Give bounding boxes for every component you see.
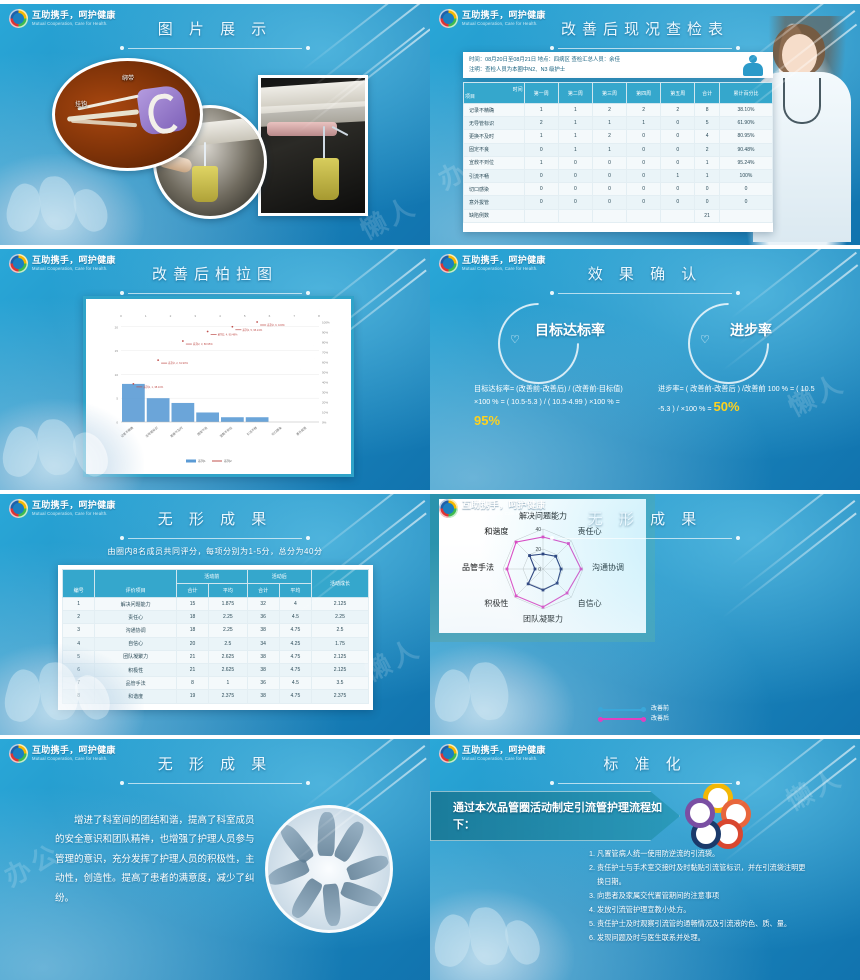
table-cell: 38 (247, 624, 279, 637)
svg-text:0: 0 (538, 567, 541, 573)
title-rule (550, 779, 740, 787)
brand-subtitle: Mutual Cooperation, Care for Health. (462, 22, 546, 26)
table-cell: 3 (63, 624, 95, 637)
table-cell: 7 (63, 677, 95, 690)
table-cell: 4.75 (279, 624, 311, 637)
svg-text:4: 4 (219, 314, 221, 318)
logo-mark-icon (9, 9, 28, 28)
table-cell: 100% (719, 169, 772, 182)
svg-text:品管手法: 品管手法 (462, 562, 494, 572)
table-cell: 1 (524, 156, 558, 169)
table-cell: 80.95% (719, 130, 772, 143)
photo-illustration-hook: 绑带 挂钩 (52, 58, 203, 171)
table-cell: 32 (247, 598, 279, 611)
table-cell: 0 (695, 183, 720, 196)
photo-label-hook: 挂钩 (75, 99, 87, 108)
title-rule (120, 289, 310, 297)
table-cell: 4 (63, 637, 95, 650)
table-column-header: 第四周 (627, 83, 661, 104)
table-group-header: 活动前 (176, 570, 247, 584)
table-row: 固定不良01100290.48% (464, 143, 773, 156)
table-cell: 1 (592, 143, 626, 156)
svg-text:20%: 20% (322, 401, 328, 405)
table-row: 无导管标识21110561.90% (464, 117, 773, 130)
svg-text:系列2, 5, 95.24%: 系列2, 5, 95.24% (242, 328, 262, 332)
logo-mark-icon (439, 499, 458, 518)
formula-target-text: 目标达标率= (改善前-改善后) / (改善前-目标值) ×100 % = ( … (474, 384, 623, 406)
table-cell: 4 (695, 130, 720, 143)
table-cell: 0 (627, 183, 661, 196)
title-rule (550, 289, 740, 297)
brand-logo: 互助携手，呵护健康 Mutual Cooperation, Care for H… (439, 9, 546, 28)
table-corner-header: 时间项目 (464, 83, 525, 104)
slide-intangible-results-table[interactable]: 互助携手，呵护健康 Mutual Cooperation, Care for H… (0, 490, 430, 735)
table-column-header: 第二周 (558, 83, 592, 104)
svg-text:20: 20 (535, 547, 541, 553)
teamwork-hands-photo (265, 805, 393, 933)
table-cell: 4.75 (279, 690, 311, 703)
table-row-label: 引流不畅 (464, 169, 525, 182)
table-cell: 1 (695, 169, 720, 182)
table-cell: 0 (661, 117, 695, 130)
brand-logo: 互助携手，呵护健康 Mutual Cooperation, Care for H… (9, 9, 116, 28)
table-cell: 0 (661, 196, 695, 209)
table-cell: 6 (63, 663, 95, 676)
slide-intangible-results-text[interactable]: 互助携手，呵护健康 Mutual Cooperation, Care for H… (0, 735, 430, 980)
table-cell: 2.25 (312, 611, 369, 624)
table-cell: 90.48% (719, 143, 772, 156)
brand-logo: 互助携手，呵护健康 Mutual Cooperation, Care for H… (9, 744, 116, 763)
svg-text:80%: 80% (322, 341, 328, 345)
table-cell: 8 (176, 677, 208, 690)
table-cell: 2.375 (209, 690, 247, 703)
table-cell: 0 (524, 143, 558, 156)
table-row-label: 无导管标识 (464, 117, 525, 130)
svg-text:意外拔管: 意外拔管 (295, 425, 307, 437)
table-row-label: 责任心 (95, 611, 177, 624)
table-cell: 2.375 (312, 690, 369, 703)
table-cell: 36 (247, 677, 279, 690)
brand-title: 互助携手，呵护健康 (32, 256, 116, 265)
table-cell: 0 (719, 183, 772, 196)
title-rule (120, 44, 310, 52)
brand-logo: 互助携手，呵护健康 Mutual Cooperation, Care for H… (439, 254, 546, 273)
table-row: 1解决问题能力151.8753242.125 (63, 598, 369, 611)
table-cell: 38 (247, 663, 279, 676)
svg-text:2: 2 (170, 314, 172, 318)
heartbeat-icon: ♡ (700, 333, 710, 346)
table-row-label: 更换不及时 (464, 130, 525, 143)
table-cell: 2.5 (209, 637, 247, 650)
svg-text:90%: 90% (322, 331, 328, 335)
svg-text:40%: 40% (322, 381, 328, 385)
table-cell (558, 209, 592, 222)
table-header-blank: 编号 (63, 570, 95, 598)
brand-logo: 互助携手，呵护健康 Mutual Cooperation, Care for H… (439, 499, 546, 518)
table-cell: 34 (247, 637, 279, 650)
table-row-label: 切口感染 (464, 183, 525, 196)
svg-text:30%: 30% (322, 391, 328, 395)
table-column-header: 累计百分比 (719, 83, 772, 104)
list-item: 发现问题及时与医生联系并处理。 (597, 931, 810, 945)
brand-logo: 互助携手，呵护健康 Mutual Cooperation, Care for H… (9, 254, 116, 273)
table-cell: 0 (592, 196, 626, 209)
slide-post-improve-checklist[interactable]: 互助携手，呵护健康 Mutual Cooperation, Care for H… (430, 0, 860, 245)
table-cell: 21 (695, 209, 720, 222)
logo-mark-icon (439, 9, 458, 28)
table-cell: 2 (524, 117, 558, 130)
svg-text:20: 20 (115, 325, 119, 329)
flower-diagram-icon (685, 783, 750, 845)
table-cell: 5 (63, 650, 95, 663)
logo-mark-icon (439, 744, 458, 763)
table-cell: 0 (558, 196, 592, 209)
table-cell (592, 209, 626, 222)
table-cell: 3.5 (312, 677, 369, 690)
table-cell: 2 (63, 611, 95, 624)
title-rule (120, 534, 310, 542)
svg-text:5: 5 (116, 397, 118, 401)
brand-title: 互助携手，呵护健康 (32, 746, 116, 755)
banner-text: 通过本次品管圈活动制定引流管护理流程如下： (431, 792, 679, 834)
table-cell: 4.75 (279, 650, 311, 663)
table-row: 8和谐度192.375384.752.375 (63, 690, 369, 703)
table-cell: 1 (524, 130, 558, 143)
table-cell: 18 (176, 611, 208, 624)
formula-improve-rate: 进步率= ( 改善前-改善后 ) /改善前 100 % = ( 10.5 -5.… (658, 382, 828, 419)
table-cell: 0 (524, 183, 558, 196)
table-row: 切口感染0000000 (464, 183, 773, 196)
slide-post-improve-pareto[interactable]: 互助携手，呵护健康 Mutual Cooperation, Care for H… (0, 245, 430, 490)
table-cell: 4 (279, 598, 311, 611)
photo-bed-drainage (258, 75, 368, 216)
logo-mark-icon (9, 254, 28, 273)
svg-text:系列2, 6, 100%: 系列2, 6, 100% (267, 323, 285, 327)
svg-text:系列2: 系列2 (224, 458, 232, 463)
table-cell: 2 (592, 130, 626, 143)
table-cell: 0 (524, 196, 558, 209)
svg-text:系列2, 2, 61.90%: 系列2, 2, 61.90% (168, 361, 188, 365)
brand-logo: 互助携手，呵护健康 Mutual Cooperation, Care for H… (9, 499, 116, 518)
svg-text:团队凝聚力: 团队凝聚力 (523, 614, 563, 624)
table-cell: 0 (719, 196, 772, 209)
table-column-header: 合计 (695, 83, 720, 104)
table-header-blank: 评价项目 (95, 570, 177, 598)
title-rule (550, 44, 740, 52)
logo-mark-icon (439, 254, 458, 273)
table-cell (719, 209, 772, 222)
list-item: 向患者及家属交代置管期间的注意事项 (597, 889, 810, 903)
formula-target-rate: 目标达标率= (改善前-改善后) / (改善前-目标值) ×100 % = ( … (474, 382, 639, 433)
brand-title: 互助携手，呵护健康 (32, 11, 116, 20)
checklist-info-strip: 时间：08月20日至08月21日 地点：四病区 查检汇总人员：余佳 注明：查检人… (463, 52, 773, 78)
table-cell: 18 (176, 624, 208, 637)
brand-title: 互助携手，呵护健康 (462, 256, 546, 265)
table-row-label: 沟通协调 (95, 624, 177, 637)
table-column-header: 第五周 (661, 83, 695, 104)
table-cell: 0 (558, 183, 592, 196)
background-hands-image (430, 644, 574, 735)
table-cell: 2.625 (209, 650, 247, 663)
svg-text:系列1: 系列1 (198, 458, 206, 463)
svg-text:更换不及时: 更换不及时 (169, 425, 184, 438)
table-cell: 5 (695, 117, 720, 130)
list-item: 责任护士与手术室交接时及时黏贴引流管标识，并在引流袋注明更换日期。 (597, 861, 810, 889)
brand-title: 互助携手，呵护健康 (462, 501, 546, 510)
svg-text:3: 3 (194, 314, 196, 318)
table-cell: 0 (558, 156, 592, 169)
table-cell: 2.125 (312, 598, 369, 611)
table-cell: 2.125 (312, 663, 369, 676)
table-row-label: 团队凝聚力 (95, 650, 177, 663)
table-cell: 2 (661, 104, 695, 117)
pareto-chart-card: 051015200123456780%10%20%30%40%50%60%70%… (83, 296, 354, 477)
table-cell: 4.5 (279, 611, 311, 624)
table-cell: 1 (209, 677, 247, 690)
info-line-2: 注明：查检人员为本圈中N2、N3 级护士 (469, 65, 620, 75)
slide-standardization[interactable]: 互助携手，呵护健康 Mutual Cooperation, Care for H… (430, 735, 860, 980)
table-column-header: 第三周 (592, 83, 626, 104)
label-target-rate: 目标达标率 (535, 320, 605, 340)
brand-title: 互助携手，呵护健康 (462, 746, 546, 755)
table-row: 引流不畅000011100% (464, 169, 773, 182)
logo-mark-icon (9, 499, 28, 518)
standardization-banner: 通过本次品管圈活动制定引流管护理流程如下： (430, 791, 680, 841)
info-line-1: 时间：08月20日至08月21日 地点：四病区 查检汇总人员：余佳 (469, 55, 620, 65)
value-improve-rate: 50% (714, 399, 740, 414)
table-cell: 8 (63, 690, 95, 703)
svg-text:积极性: 积极性 (484, 598, 508, 608)
table-cell: 0 (661, 143, 695, 156)
scoring-note: 由圈内8名成员共同评分，每项分别为1-5分，总分为40分 (0, 546, 430, 557)
table-cell: 1.75 (312, 637, 369, 650)
table-cell: 0 (627, 143, 661, 156)
svg-text:70%: 70% (322, 351, 328, 355)
table-cell (524, 209, 558, 222)
svg-text:自信心: 自信心 (578, 598, 602, 608)
table-cell: 0 (592, 156, 626, 169)
background-hands-image (430, 889, 574, 980)
brand-title: 互助携手，呵护健康 (32, 501, 116, 510)
table-cell: 38 (247, 650, 279, 663)
table-column-header: 第一周 (524, 83, 558, 104)
intangible-paragraph: 增进了科室间的团结和谐，提高了科室成员的安全意识和团队精神，也增强了护理人员参与… (55, 811, 255, 908)
table-column-header: 合计 (247, 584, 279, 598)
brand-subtitle: Mutual Cooperation, Care for Health. (32, 512, 116, 516)
table-cell: 1 (524, 104, 558, 117)
table-row: 记录不精确11222838.10% (464, 104, 773, 117)
table-row-label: 意外拔管 (464, 196, 525, 209)
svg-text:系列2, 1, 38.10%: 系列2, 1, 38.10% (143, 385, 163, 389)
table-cell: 1 (63, 598, 95, 611)
table-cell: 0 (558, 169, 592, 182)
table-cell: 2.125 (312, 650, 369, 663)
table-row: 意外拔管0000000 (464, 196, 773, 209)
table-cell: 61.90% (719, 117, 772, 130)
table-cell: 4.5 (279, 677, 311, 690)
table-cell: 0 (592, 183, 626, 196)
table-row-label: 积极性 (95, 663, 177, 676)
brand-title: 互助携手，呵护健康 (462, 11, 546, 20)
table-row-label: 自信心 (95, 637, 177, 650)
svg-text:0: 0 (116, 421, 118, 425)
table-cell: 0 (627, 196, 661, 209)
svg-text:6: 6 (269, 314, 271, 318)
table-row: 7品管手法81364.53.5 (63, 677, 369, 690)
table-row-label: 解决问题能力 (95, 598, 177, 611)
table-row-label: 固定不良 (464, 143, 525, 156)
table-cell: 1 (592, 117, 626, 130)
table-row: 宣教不到位10000195.24% (464, 156, 773, 169)
table-group-header: 活动后 (247, 570, 311, 584)
table-cell: 0 (661, 156, 695, 169)
table-row-label: 品管手法 (95, 677, 177, 690)
brand-logo: 互助携手，呵护健康 Mutual Cooperation, Care for H… (439, 744, 546, 763)
value-target-rate: 95% (474, 413, 500, 428)
intangible-table: 编号评价项目活动前活动后活动成长合计平均合计平均1解决问题能力151.87532… (58, 565, 373, 710)
table-group-header: 活动成长 (312, 570, 369, 598)
photo-label-band: 绑带 (122, 73, 134, 82)
table-cell: 1 (558, 117, 592, 130)
purple-clip-shape (136, 84, 188, 136)
svg-text:5: 5 (244, 314, 246, 318)
svg-text:15: 15 (115, 349, 119, 353)
table-cell: 20 (176, 637, 208, 650)
table-cell: 1 (627, 117, 661, 130)
table-cell: 2.5 (312, 624, 369, 637)
slide-photo-display[interactable]: 互助携手，呵护健康 Mutual Cooperation, Care for H… (0, 0, 430, 245)
table-row-label: 宣教不到位 (464, 156, 525, 169)
list-item: 责任护士及时观察引流管的通畅情况及引流液的色、质、量。 (597, 917, 810, 931)
table-cell: 0 (695, 196, 720, 209)
svg-text:10: 10 (115, 373, 119, 377)
table-cell: 2 (695, 143, 720, 156)
table-cell: 95.24% (719, 156, 772, 169)
table-row: 缺陷例数21 (464, 209, 773, 222)
slide-intangible-results-radar[interactable]: 互助携手，呵护健康 Mutual Cooperation, Care for H… (430, 490, 860, 735)
svg-text:10%: 10% (322, 411, 328, 415)
brand-subtitle: Mutual Cooperation, Care for Health. (462, 267, 546, 271)
svg-text:记录不精确: 记录不精确 (119, 425, 134, 438)
table-row: 3沟通协调182.25384.752.5 (63, 624, 369, 637)
logo-mark-icon (9, 744, 28, 763)
slide-effect-confirmation[interactable]: 互助携手，呵护健康 Mutual Cooperation, Care for H… (430, 245, 860, 490)
pareto-chart: 051015200123456780%10%20%30%40%50%60%70%… (91, 304, 346, 469)
table-cell: 38 (247, 690, 279, 703)
title-rule (550, 534, 740, 542)
table-cell (661, 209, 695, 222)
table-cell: 2 (627, 104, 661, 117)
doctor-avatar-icon (743, 55, 763, 76)
table-cell: 2.625 (209, 663, 247, 676)
svg-text:宣教不到位: 宣教不到位 (218, 425, 233, 438)
brand-subtitle: Mutual Cooperation, Care for Health. (462, 512, 546, 516)
title-rule (120, 779, 310, 787)
table-cell: 21 (176, 663, 208, 676)
table-row: 更换不及时11200480.95% (464, 130, 773, 143)
svg-text:0%: 0% (322, 421, 327, 425)
brand-subtitle: Mutual Cooperation, Care for Health. (32, 22, 116, 26)
svg-text:固定不良: 固定不良 (196, 425, 208, 437)
table-cell: 0 (592, 169, 626, 182)
table-cell (627, 209, 661, 222)
svg-text:沟通协调: 沟通协调 (592, 562, 624, 572)
list-item: 凡置管病人统一使用防逆流的引流袋。 (597, 847, 810, 861)
table-cell: 19 (176, 690, 208, 703)
table-cell: 0 (661, 130, 695, 143)
table-cell: 0 (627, 130, 661, 143)
table-column-header: 平均 (279, 584, 311, 598)
table-cell: 0 (661, 183, 695, 196)
legend-label-after: 改善后 (651, 715, 669, 725)
standardization-list: 凡置管病人统一使用防逆流的引流袋。责任护士与手术室交接时及时黏贴引流管标识，并在… (580, 847, 810, 945)
table-cell: 2 (592, 104, 626, 117)
table-row: 4自信心202.5344.251.75 (63, 637, 369, 650)
table-cell: 4.25 (279, 637, 311, 650)
svg-text:系列2, 3, 80.95%: 系列2, 3, 80.95% (193, 342, 213, 346)
brand-subtitle: Mutual Cooperation, Care for Health. (32, 757, 116, 761)
table-row-label: 和谐度 (95, 690, 177, 703)
svg-text:系列2, 4, 90.48%: 系列2, 4, 90.48% (218, 333, 238, 337)
table-cell: 8 (695, 104, 720, 117)
table-cell: 36 (247, 611, 279, 624)
table-column-header: 平均 (209, 584, 247, 598)
table-cell: 2.25 (209, 624, 247, 637)
table-cell: 4.75 (279, 663, 311, 676)
table-cell: 1 (558, 130, 592, 143)
svg-text:50%: 50% (322, 371, 328, 375)
table-column-header: 合计 (176, 584, 208, 598)
table-cell: 21 (176, 650, 208, 663)
table-row: 6积极性212.625384.752.125 (63, 663, 369, 676)
svg-text:引流不畅: 引流不畅 (245, 425, 257, 437)
checklist-table: 时间项目第一周第二周第三周第四周第五周合计累计百分比记录不精确11222838.… (463, 82, 773, 232)
decorative-streaks (720, 551, 860, 723)
brand-subtitle: Mutual Cooperation, Care for Health. (462, 757, 546, 761)
table-cell: 0 (627, 156, 661, 169)
svg-text:8: 8 (318, 314, 320, 318)
table-row-label: 记录不精确 (464, 104, 525, 117)
radar-legend: 改善前 改善后 (598, 705, 669, 724)
table-cell: 1 (558, 104, 592, 117)
svg-text:0: 0 (120, 314, 122, 318)
table-cell: 1 (661, 169, 695, 182)
brand-subtitle: Mutual Cooperation, Care for Health. (32, 267, 116, 271)
table-cell: 2.25 (209, 611, 247, 624)
table-row-label: 缺陷例数 (464, 209, 525, 222)
legend-label-before: 改善前 (651, 705, 669, 715)
table-cell: 0 (627, 169, 661, 182)
heartbeat-icon: ♡ (510, 333, 520, 346)
table-cell: 1 (695, 156, 720, 169)
table-cell: 1 (558, 143, 592, 156)
svg-text:100%: 100% (322, 321, 330, 325)
svg-text:60%: 60% (322, 361, 328, 365)
svg-text:1: 1 (145, 314, 147, 318)
label-improve-rate: 进步率 (730, 320, 772, 340)
table-cell: 15 (176, 598, 208, 611)
table-row: 5团队凝聚力212.625384.752.125 (63, 650, 369, 663)
table-cell: 38.10% (719, 104, 772, 117)
slide-grid: 互助携手，呵护健康 Mutual Cooperation, Care for H… (0, 0, 860, 980)
svg-text:7: 7 (293, 314, 295, 318)
table-row: 2责任心182.25364.52.25 (63, 611, 369, 624)
svg-text:无导管标识: 无导管标识 (144, 425, 159, 438)
table-cell: 0 (524, 169, 558, 182)
svg-text:切口感染: 切口感染 (270, 425, 282, 437)
list-item: 发放引流管护理宣教小处方。 (597, 903, 810, 917)
table-cell: 1.875 (209, 598, 247, 611)
